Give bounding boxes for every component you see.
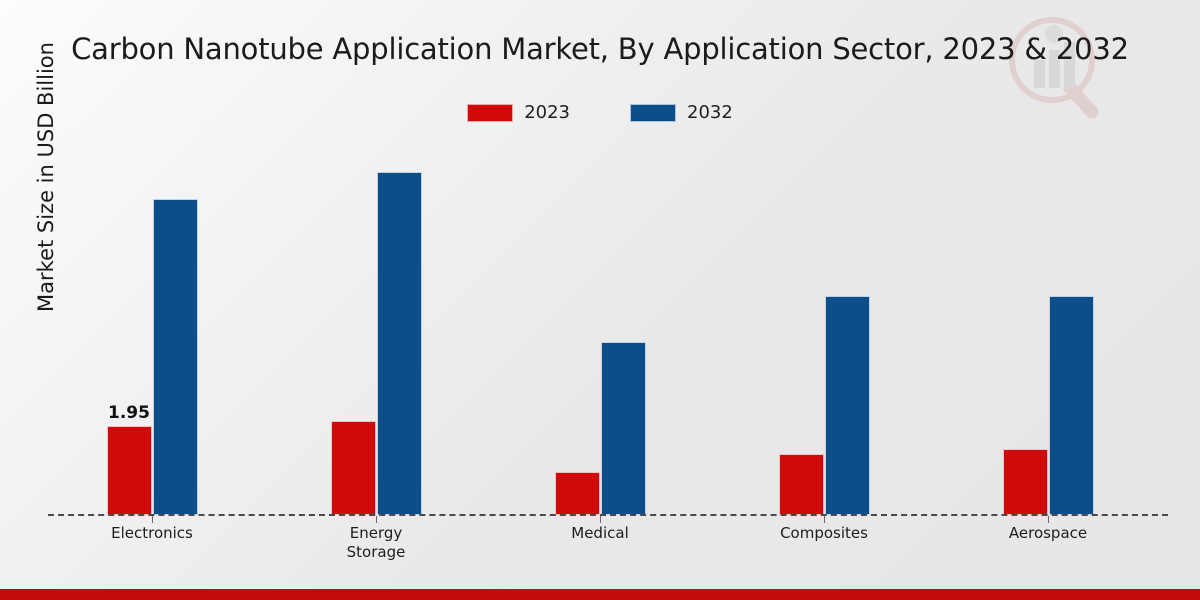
bar-2023-aerospace[interactable] <box>1003 449 1048 515</box>
bar-2023-energy-storage[interactable] <box>331 421 376 515</box>
x-axis-line <box>48 514 1168 516</box>
plot-area: 1.95 <box>48 140 1168 515</box>
chart-title: Carbon Nanotube Application Market, By A… <box>0 32 1200 66</box>
legend-label-2032: 2032 <box>687 102 733 123</box>
legend-item-2023[interactable]: 2023 <box>467 102 570 123</box>
legend-swatch-2032 <box>630 104 676 122</box>
x-axis-tick <box>152 516 153 523</box>
x-axis-label-electronics: Electronics <box>52 524 252 543</box>
bar-2032-aerospace[interactable] <box>1049 296 1094 516</box>
bar-2023-composites[interactable] <box>779 454 824 515</box>
bar-group: 1.95 <box>48 140 272 515</box>
bar-2032-electronics[interactable] <box>153 199 198 515</box>
bar-group <box>272 140 496 515</box>
x-axis-label-composites: Composites <box>724 524 924 543</box>
bar-2023-electronics[interactable] <box>107 426 152 515</box>
bar-2023-medical[interactable] <box>555 472 600 515</box>
bar-2032-energy-storage[interactable] <box>377 172 422 515</box>
bar-group <box>720 140 944 515</box>
legend-label-2023: 2023 <box>524 102 570 123</box>
bar-group <box>944 140 1168 515</box>
bar-group <box>496 140 720 515</box>
x-axis-tick <box>376 516 377 523</box>
x-axis-label-energy-storage: EnergyStorage <box>276 524 476 562</box>
bar-2032-medical[interactable] <box>601 342 646 515</box>
x-axis-label-medical: Medical <box>500 524 700 543</box>
chart-legend: 2023 2032 <box>0 102 1200 123</box>
x-axis-tick <box>824 516 825 523</box>
bar-2032-composites[interactable] <box>825 296 870 516</box>
chart-page: Carbon Nanotube Application Market, By A… <box>0 0 1200 600</box>
legend-swatch-2023 <box>467 104 513 122</box>
x-axis-label-aerospace: Aerospace <box>948 524 1148 543</box>
x-axis-tick <box>600 516 601 523</box>
x-axis-tick <box>1048 516 1049 523</box>
footer-bar <box>0 589 1200 600</box>
legend-item-2032[interactable]: 2032 <box>630 102 733 123</box>
